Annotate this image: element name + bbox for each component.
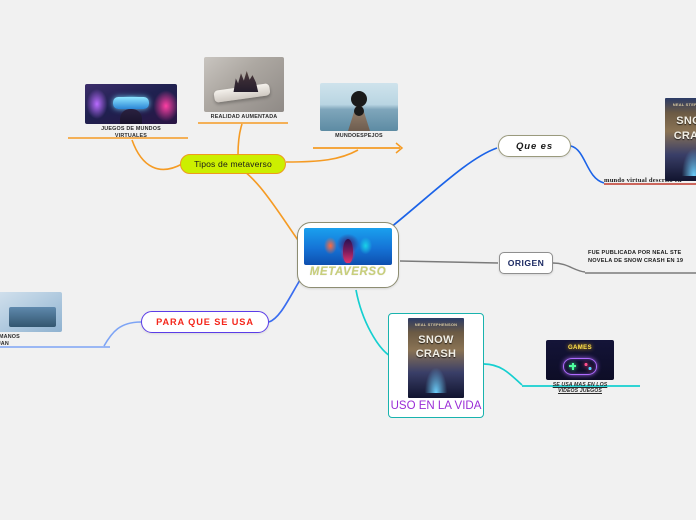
branch-label: PARA QUE SE USA	[156, 317, 254, 327]
branch-label: Que es	[516, 141, 553, 152]
branch-label: USO EN LA VIDA	[391, 400, 482, 412]
edge-central-tipos	[233, 165, 300, 243]
leaf-caption: REALIDAD AUMENTADA	[204, 114, 284, 121]
edge-origen-text	[553, 263, 585, 272]
edge-usovida-games	[484, 364, 522, 385]
gamepad-icon	[563, 358, 597, 375]
edge-quees-text	[571, 146, 604, 183]
snow-crash-book-cover-image: NEAL STEPHENSON SNOW CRASH	[408, 318, 464, 398]
leaf-origen-line1: FUE PUBLICADA POR NEAL STE	[588, 249, 683, 257]
central-node-label: METAVERSO	[310, 266, 387, 278]
edge-central-quees	[390, 148, 497, 228]
edge-central-parausa	[269, 280, 300, 322]
edge-arrow-espejos	[396, 143, 402, 153]
branch-origen[interactable]: ORIGEN	[499, 252, 553, 274]
metaverso-hero-image	[304, 228, 392, 265]
central-node-metaverso[interactable]: METAVERSO	[297, 222, 399, 288]
edge-tipos-espejos	[286, 150, 358, 162]
branch-que-es[interactable]: Que es	[498, 135, 571, 157]
leaf-realidad-aumentada[interactable]: REALIDAD AUMENTADA	[204, 57, 284, 121]
leaf-videos-juegos[interactable]: GAMES SE USA MAS EN LOS VIDEOS JUEGOS	[546, 340, 614, 394]
augmented-reality-phone-image	[204, 57, 284, 112]
leaf-juegos-mundos-virtuales[interactable]: JUEGOS DE MUNDOS VIRTUALES	[85, 84, 177, 141]
leaf-caption-line2: CAMENTE	[0, 349, 62, 356]
branch-label: Tipos de metaverso	[194, 159, 272, 169]
mirror-world-pier-image	[320, 83, 398, 131]
leaf-origen-line2: NOVELA DE SNOW CRASH EN 19	[588, 257, 683, 265]
mindmap-canvas: JUEGOS DE MUNDOS VIRTUALES REALIDAD AUME…	[0, 0, 696, 520]
branch-tipos-de-metaverso[interactable]: Tipos de metaverso	[180, 154, 286, 174]
branch-uso-en-la-vida[interactable]: NEAL STEPHENSON SNOW CRASH USO EN LA VID…	[388, 313, 484, 418]
book-title-line2: CRASH	[665, 130, 696, 142]
leaf-origen-description: FUE PUBLICADA POR NEAL STE NOVELA DE SNO…	[588, 249, 683, 266]
book-title-line1: SNOW	[408, 334, 464, 346]
vr-headset-gaming-image	[85, 84, 177, 124]
edge-tipos-juegos	[132, 140, 182, 169]
edge-parausa-humanos	[104, 322, 141, 346]
edge-central-usovida	[356, 290, 390, 356]
branch-para-que-se-usa[interactable]: PARA QUE SE USA	[141, 311, 269, 333]
games-title-text: GAMES	[546, 345, 614, 351]
book-author: NEAL STEPHENSON	[408, 322, 464, 327]
humans-interacting-lab-image	[0, 292, 62, 332]
book-author: NEAL STEPHENSON	[665, 102, 696, 107]
leaf-caption-line1: DE LOS HUMANOS INTERACTUAN	[0, 334, 62, 349]
neon-games-controller-image: GAMES	[546, 340, 614, 380]
leaf-caption: SE USA MAS EN LOS VIDEOS JUEGOS	[546, 382, 614, 394]
branch-label: ORIGEN	[508, 258, 545, 268]
edge-central-origen	[400, 261, 498, 263]
leaf-caption: JUEGOS DE MUNDOS VIRTUALES	[85, 126, 177, 141]
book-title-line1: SNOW	[665, 115, 696, 127]
leaf-caption: DE LOS HUMANOS INTERACTUAN CAMENTE	[0, 334, 62, 356]
leaf-humanos-interactuan[interactable]: DE LOS HUMANOS INTERACTUAN CAMENTE	[0, 292, 62, 356]
book-title-line2: CRASH	[408, 348, 464, 360]
snow-crash-book-cover-image: NEAL STEPHENSON SNOW CRASH	[665, 98, 696, 181]
leaf-mundoespejos[interactable]: MUNDOESPEJOS	[320, 83, 398, 140]
leaf-caption: MUNDOESPEJOS	[320, 133, 398, 140]
edge-tipos-realidad	[238, 124, 242, 155]
